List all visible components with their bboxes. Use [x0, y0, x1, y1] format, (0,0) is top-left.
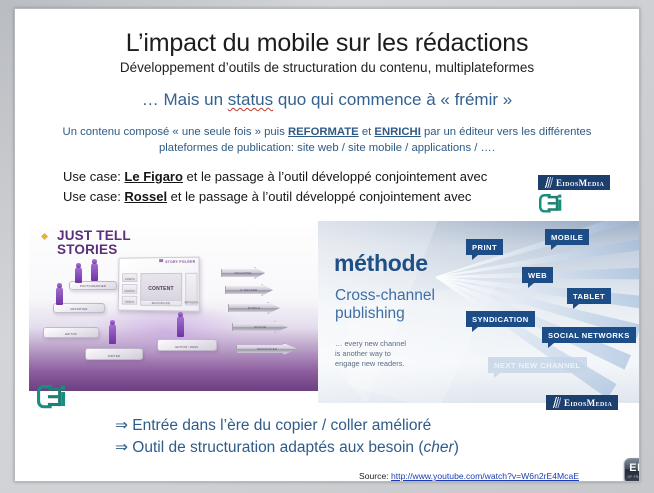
cei-letter-e-icon [48, 387, 61, 406]
platform-editor: EDITOR [43, 327, 99, 338]
output-arrow-ereader: E-READER [225, 284, 273, 296]
methode-title: méthode [334, 250, 428, 277]
em-badge-logo: EM OF FRANCE [624, 458, 640, 482]
methode-note-line-1: … every new channel [335, 339, 406, 348]
folder-cell-graphs: GRAPHS [122, 284, 138, 294]
source-link[interactable]: http://www.youtube.com/watch?v=W6n2rE4Mc… [391, 471, 579, 481]
eidosmedia-mark-icon [550, 397, 561, 408]
conclusion-2-italic: cher [424, 439, 454, 456]
cei-logo-usecase [539, 194, 563, 213]
use-case-suffix-1: et le passage à l’outil développé conjoi… [183, 169, 487, 184]
jts-headline-line-2: STORIES [57, 242, 117, 257]
methode-note-line-2: is another way to [335, 349, 391, 358]
folder-cell-metadata: METADATA [185, 273, 197, 306]
person-figure-writer [91, 263, 98, 281]
conclusion-2-tail: ) [454, 439, 459, 456]
cei-letter-e-icon [548, 196, 559, 211]
channel-tag-social-networks: SOCIAL NETWORKS [542, 327, 636, 343]
methode-subtitle-line-1: Cross-channel [335, 287, 435, 304]
eidosmedia-mark-icon [542, 177, 553, 188]
keyword-reformate: REFORMATE [288, 126, 359, 138]
channel-tag-tablet: TABLET [567, 288, 611, 304]
platform-editor-desk: EDITOR / DESK [157, 339, 217, 351]
eidosmedia-logo-text: EidosMedia [564, 398, 612, 408]
just-tell-stories-illustration: JUST TELL STORIES STORY FOLDER ASSETS GR… [29, 223, 319, 391]
story-folder-box: STORY FOLDER ASSETS GRAPHS VIDEOS METADA… [118, 257, 200, 312]
status-line-post: quo qui commence à « frémir » [273, 90, 512, 109]
star-bullet-icon [41, 233, 48, 240]
presentation-slide: L’impact du mobile sur les rédactions Dé… [14, 8, 640, 482]
methode-note-line-3: engage new readers. [335, 359, 404, 368]
keyword-enrichi: ENRICHI [374, 126, 420, 138]
methode-subtitle-line-2: publishing [335, 305, 405, 322]
em-badge-initials: EM [629, 463, 640, 474]
intro-paragraph: Un contenu composé « une seule fois » pu… [15, 124, 639, 157]
channel-tag-next-new-channel: NEXT NEW CHANNEL [488, 357, 587, 373]
em-badge-subtext: OF FRANCE [627, 475, 640, 479]
platform-writer: WRITER [85, 348, 143, 360]
methode-subtitle: Cross-channel publishing [335, 287, 435, 324]
jts-headline: JUST TELL STORIES [57, 229, 131, 257]
person-figure-photographer [75, 267, 82, 283]
output-arrow-magazine: MAGAZINE [221, 267, 265, 279]
channel-tag-mobile: MOBILE [545, 229, 589, 245]
use-case-prefix-2: Use case: [63, 189, 124, 204]
folder-cell-assets: ASSETS [122, 273, 137, 282]
status-misspelled-word: status [228, 90, 273, 109]
paragraph-part-1: Un contenu composé « une seule fois » pu… [63, 126, 288, 138]
jts-headline-line-1: JUST TELL [57, 228, 131, 243]
use-case-prefix-1: Use case: [63, 169, 124, 184]
methode-illustration: méthode Cross-channel publishing … every… [318, 221, 640, 403]
eidosmedia-logo-bottom: EidosMedia [546, 395, 618, 410]
person-figure-desk [109, 324, 116, 344]
story-folder-label: STORY FOLDER [159, 259, 195, 264]
paragraph-part-4: plateformes de publication: site web / s… [159, 142, 495, 154]
use-case-entity-figaro: Le Figaro [124, 169, 183, 184]
conclusion-1: ⇒ Entrée dans l’ère du copier / coller a… [115, 415, 459, 437]
cei-letter-i-dot-icon [558, 195, 561, 198]
folder-cell-background: BACKGROUND [140, 300, 182, 307]
page-subtitle: Développement d’outils de structuration … [15, 60, 639, 75]
channel-tag-web: WEB [522, 267, 553, 283]
eidosmedia-logo-text: EidosMedia [556, 178, 604, 188]
status-line-pre: … Mais un [142, 90, 228, 109]
paragraph-part-3: par un éditeur vers les différentes [421, 126, 592, 138]
status-quo-line: … Mais un status quo qui commence à « fr… [15, 90, 639, 110]
channel-tag-syndication: SYNDICATION [466, 311, 535, 327]
source-line: Source: http://www.youtube.com/watch?v=W… [359, 471, 579, 481]
conclusion-2-text: ⇒ Outil de structuration adaptés aux bes… [115, 439, 424, 456]
cei-letter-i-icon [61, 392, 65, 406]
person-figure-editor [177, 316, 184, 337]
screenshot-frame: L’impact du mobile sur les rédactions Dé… [0, 0, 654, 493]
person-figure-reporter [56, 287, 63, 305]
cei-logo-bottom [37, 385, 67, 408]
folder-cell-videos: VIDEOS [122, 296, 138, 305]
source-label: Source: [359, 471, 391, 481]
methode-note: … every new channel is another way to en… [335, 339, 406, 370]
use-case-suffix-2: et le passage à l’outil développé conjoi… [167, 189, 471, 204]
conclusion-2: ⇒ Outil de structuration adaptés aux bes… [115, 437, 459, 459]
page-title: L’impact du mobile sur les rédactions [15, 29, 639, 58]
eidosmedia-logo-usecase: EidosMedia [538, 175, 610, 190]
paragraph-part-2: et [359, 126, 375, 138]
channel-tag-print: PRINT [466, 239, 503, 255]
cei-letter-i-icon [558, 200, 561, 211]
cei-letter-i-dot-icon [61, 386, 65, 390]
use-case-entity-rossel: Rossel [124, 189, 167, 204]
conclusion-list: ⇒ Entrée dans l’ère du copier / coller a… [115, 415, 459, 459]
